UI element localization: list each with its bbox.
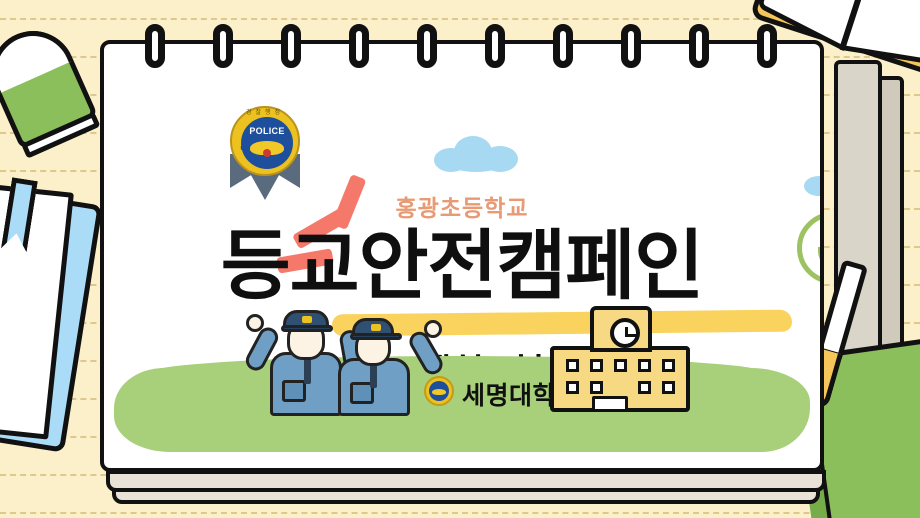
spiral-ring bbox=[145, 24, 165, 68]
badge-police-label: POLICE bbox=[241, 126, 293, 136]
notepad-card: 경찰행정 SEMYUNG UNIVERSITY POLICE 홍광초등학교 등교… bbox=[100, 40, 824, 472]
spiral-binding bbox=[0, 0, 920, 60]
spiral-ring bbox=[485, 24, 505, 68]
paper-rule-line bbox=[0, 512, 920, 514]
spiral-ring bbox=[281, 24, 301, 68]
poster-canvas: 경찰행정 SEMYUNG UNIVERSITY POLICE 홍광초등학교 등교… bbox=[0, 0, 920, 518]
page-title: 등교안전캠페인 bbox=[104, 229, 820, 305]
spiral-ring bbox=[689, 24, 709, 68]
spiral-ring bbox=[349, 24, 369, 68]
badge-korean-label: 경찰행정 bbox=[232, 107, 298, 116]
card-stack-layer-1 bbox=[106, 470, 826, 492]
semyung-police-badge-icon: 경찰행정 SEMYUNG UNIVERSITY POLICE bbox=[222, 104, 308, 200]
spiral-ring bbox=[621, 24, 641, 68]
school-name: 홍광초등학교 bbox=[104, 189, 820, 223]
spiral-ring bbox=[417, 24, 437, 68]
school-building-illustration bbox=[532, 308, 708, 412]
officer-female bbox=[330, 308, 426, 416]
spiral-ring bbox=[553, 24, 573, 68]
spiral-ring bbox=[757, 24, 777, 68]
clock-icon bbox=[610, 318, 640, 348]
department-badge-icon bbox=[424, 376, 454, 406]
police-officers-illustration bbox=[256, 296, 426, 416]
spiral-ring bbox=[213, 24, 233, 68]
cloud-left-icon bbox=[434, 134, 524, 170]
